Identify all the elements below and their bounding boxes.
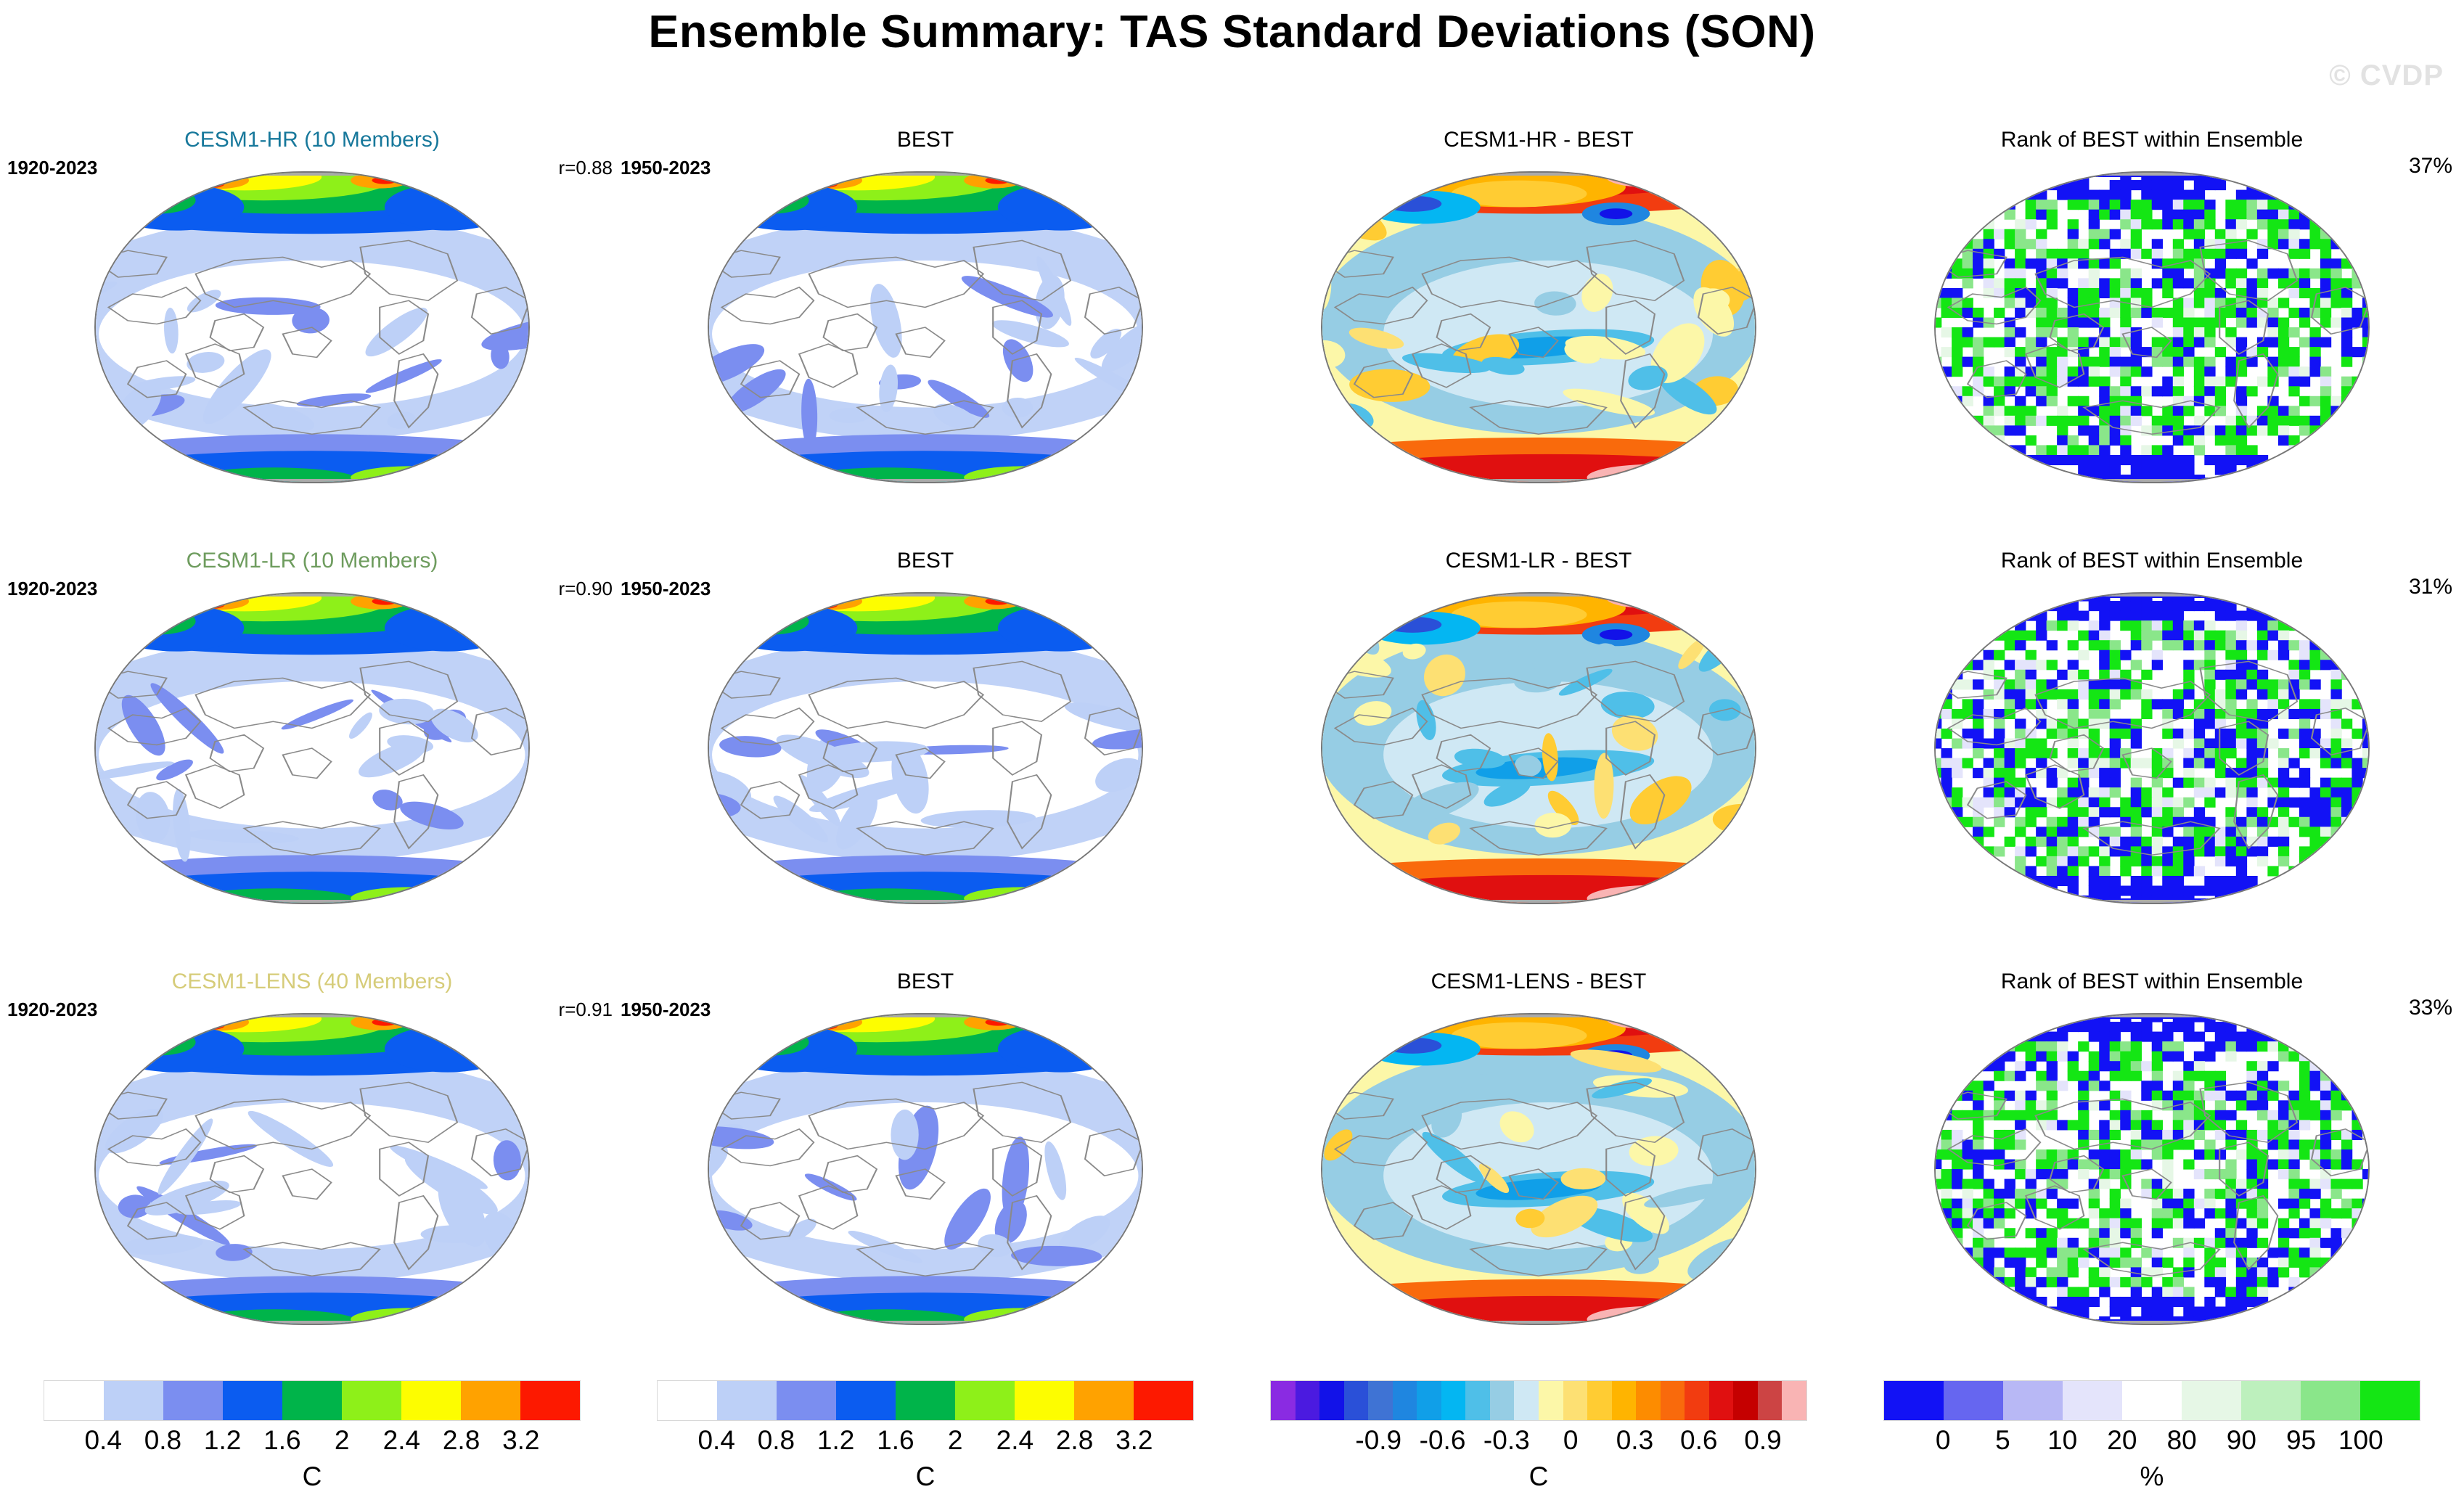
colorbar-tick-label: 2 [335, 1425, 350, 1456]
colorbar-swatch [2122, 1381, 2182, 1420]
colorbar-swatch [1393, 1381, 1417, 1420]
colorbar-tick-label: -0.6 [1420, 1425, 1466, 1456]
map-panel-model-row3: CESM1-LENS (40 Members)1920-2023r=0.91 [7, 978, 617, 1370]
colorbar-tick-label: 0.3 [1616, 1425, 1653, 1456]
cvdp-watermark: © CVDP [2329, 60, 2444, 92]
colorbar-swatch [1563, 1381, 1588, 1420]
map-projection-outline [1321, 171, 1756, 483]
projection-bottom-edge [2048, 1321, 2256, 1324]
map-panel-obs-row3: BEST1950-2023 [621, 978, 1230, 1370]
projection-top-edge [822, 173, 1029, 176]
projection-bottom-edge [1435, 900, 1642, 903]
colorbar-tick-label: 10 [2047, 1425, 2077, 1456]
colorbar-tick-label: 0.6 [1680, 1425, 1717, 1456]
projection-bottom-edge [2048, 479, 2256, 482]
colorbar-swatch [2003, 1381, 2063, 1420]
panel-period-obs-row1: 1950-2023 [621, 157, 711, 179]
projection-top-edge [822, 594, 1029, 597]
colorbar-swatch [1587, 1381, 1612, 1420]
projection-top-edge [822, 1015, 1029, 1017]
colorbar-swatch [1465, 1381, 1490, 1420]
colorbar-swatch [163, 1381, 223, 1420]
projection-bottom-edge [208, 479, 416, 482]
colorbar-swatch [2241, 1381, 2301, 1420]
colorbar-tick-label: 2 [948, 1425, 963, 1456]
panel-title-obs-row2: BEST [621, 549, 1230, 573]
map-panel-diff-row3: CESM1-LENS - BEST [1234, 978, 1843, 1370]
panel-title-rank-row3: Rank of BEST within Ensemble [1847, 970, 2457, 994]
colorbar-swatch [658, 1381, 717, 1420]
projection-bottom-edge [822, 479, 1029, 482]
map-projection-outline [94, 171, 530, 483]
map-panel-rank-row1: Rank of BEST within Ensemble37% [1847, 136, 2457, 528]
globe-diff-row3 [1321, 1013, 1756, 1325]
colorbar-swatch [1733, 1381, 1758, 1420]
colorbar-swatch [1015, 1381, 1074, 1420]
map-projection-outline [1934, 592, 2370, 904]
colorbar-tick-label: 90 [2227, 1425, 2256, 1456]
colorbar-swatch [1661, 1381, 1685, 1420]
colorbar-swatch [2182, 1381, 2241, 1420]
projection-top-edge [208, 594, 416, 597]
projection-bottom-edge [208, 1321, 416, 1324]
colorbar-tick-label: -0.3 [1483, 1425, 1530, 1456]
colorbar-swatch [520, 1381, 580, 1420]
panel-title-model-row1: CESM1-HR (10 Members) [7, 128, 617, 152]
map-projection-outline [708, 592, 1143, 904]
projection-bottom-edge [2048, 900, 2256, 903]
map-projection-outline [1321, 592, 1756, 904]
colorbar-swatch [1441, 1381, 1466, 1420]
colorbar-swatch [2301, 1381, 2360, 1420]
colorbar-std-dev-obs: 0.40.81.21.622.42.83.2C [657, 1380, 1194, 1421]
colorbar-strip-difference [1270, 1380, 1807, 1421]
panel-title-diff-row3: CESM1-LENS - BEST [1234, 970, 1843, 994]
colorbar-tick-label: 2.4 [383, 1425, 420, 1456]
colorbar-rank-percentile: 051020809095100% [1883, 1380, 2420, 1421]
panel-correlation-row3: r=0.91 [559, 999, 613, 1021]
colorbar-swatch [104, 1381, 163, 1420]
panel-correlation-row2: r=0.90 [559, 578, 613, 600]
colorbar-swatch [2063, 1381, 2122, 1420]
map-projection-outline [1934, 1013, 2370, 1325]
colorbar-tick-label: 80 [2167, 1425, 2197, 1456]
colorbar-difference: -0.9-0.6-0.300.30.60.9C [1270, 1380, 1807, 1421]
colorbar-tick-label: 0 [1936, 1425, 1951, 1456]
colorbar-strip-rank-percentile [1883, 1380, 2420, 1421]
colorbar-tick-label: 1.2 [204, 1425, 241, 1456]
colorbar-swatch [1944, 1381, 2003, 1420]
map-panel-rank-row2: Rank of BEST within Ensemble31% [1847, 557, 2457, 949]
projection-top-edge [2048, 594, 2256, 597]
colorbar-tick-label: 100 [2338, 1425, 2383, 1456]
colorbar-swatch [1319, 1381, 1344, 1420]
globe-diff-row1 [1321, 171, 1756, 483]
panel-period-model-row1: 1920-2023 [7, 157, 97, 179]
colorbar-tick-label: 2.8 [1056, 1425, 1093, 1456]
colorbar-swatch [1758, 1381, 1782, 1420]
globe-diff-row2 [1321, 592, 1756, 904]
panel-title-obs-row3: BEST [621, 970, 1230, 994]
colorbar-tick-label: 3.2 [1116, 1425, 1153, 1456]
colorbar-swatch [223, 1381, 282, 1420]
colorbar-swatch [401, 1381, 461, 1420]
panel-rank-percent-row1: 37% [2409, 154, 2452, 179]
globe-obs-row3 [708, 1013, 1143, 1325]
colorbar-tick-label: 0.8 [144, 1425, 181, 1456]
panel-rank-percent-row2: 31% [2409, 575, 2452, 599]
colorbar-strip-std-dev-obs [657, 1380, 1194, 1421]
colorbar-ticks-std-dev-model: 0.40.81.21.622.42.83.2 [44, 1425, 581, 1459]
projection-bottom-edge [1435, 479, 1642, 482]
map-panel-diff-row1: CESM1-HR - BEST [1234, 136, 1843, 528]
colorbar-swatch [955, 1381, 1015, 1420]
projection-top-edge [208, 173, 416, 176]
colorbar-swatch [461, 1381, 520, 1420]
colorbar-swatch [1417, 1381, 1441, 1420]
panel-title-obs-row1: BEST [621, 128, 1230, 152]
projection-top-edge [1435, 173, 1642, 176]
globe-obs-row2 [708, 592, 1143, 904]
globe-rank-row1 [1934, 171, 2370, 483]
colorbar-unit-std-dev-model: C [44, 1462, 581, 1492]
map-projection-outline [94, 1013, 530, 1325]
colorbar-swatch [342, 1381, 401, 1420]
panel-title-diff-row1: CESM1-HR - BEST [1234, 128, 1843, 152]
map-projection-outline [708, 1013, 1143, 1325]
map-panel-obs-row2: BEST1950-2023 [621, 557, 1230, 949]
projection-top-edge [208, 1015, 416, 1017]
projection-bottom-edge [208, 900, 416, 903]
colorbar-tick-label: 1.6 [877, 1425, 914, 1456]
colorbar-tick-label: 5 [1995, 1425, 2010, 1456]
colorbar-tick-label: 0.9 [1744, 1425, 1781, 1456]
globe-model-row2 [94, 592, 530, 904]
colorbar-swatch [1782, 1381, 1806, 1420]
globe-rank-row2 [1934, 592, 2370, 904]
panel-title-diff-row2: CESM1-LR - BEST [1234, 549, 1843, 573]
globe-model-row1 [94, 171, 530, 483]
colorbar-unit-rank-percentile: % [1883, 1462, 2420, 1492]
map-projection-outline [94, 592, 530, 904]
colorbar-unit-difference: C [1270, 1462, 1807, 1492]
colorbar-swatch [1636, 1381, 1661, 1420]
panel-period-model-row2: 1920-2023 [7, 578, 97, 600]
colorbar-swatch [1271, 1381, 1296, 1420]
colorbar-swatch [717, 1381, 777, 1420]
colorbar-swatch [1539, 1381, 1563, 1420]
projection-top-edge [2048, 1015, 2256, 1017]
colorbar-swatch [1490, 1381, 1515, 1420]
panel-title-rank-row1: Rank of BEST within Ensemble [1847, 128, 2457, 152]
colorbar-tick-label: 2.8 [443, 1425, 480, 1456]
colorbar-tick-label: 0.8 [758, 1425, 795, 1456]
colorbar-tick-label: 0 [1563, 1425, 1579, 1456]
map-panel-model-row1: CESM1-HR (10 Members)1920-2023r=0.88 [7, 136, 617, 528]
colorbar-swatch [1368, 1381, 1393, 1420]
colorbar-strip-std-dev-model [44, 1380, 581, 1421]
colorbar-swatch [44, 1381, 104, 1420]
panel-rank-percent-row3: 33% [2409, 996, 2452, 1020]
colorbar-ticks-rank-percentile: 051020809095100 [1883, 1425, 2420, 1459]
colorbar-swatch [1344, 1381, 1369, 1420]
colorbar-unit-std-dev-obs: C [657, 1462, 1194, 1492]
colorbar-swatch [1296, 1381, 1320, 1420]
colorbar-swatch [836, 1381, 896, 1420]
projection-top-edge [2048, 173, 2256, 176]
colorbar-tick-label: 0.4 [84, 1425, 121, 1456]
panel-title-rank-row2: Rank of BEST within Ensemble [1847, 549, 2457, 573]
colorbar-swatch [1612, 1381, 1637, 1420]
colorbar-tick-label: -0.9 [1355, 1425, 1401, 1456]
colorbar-swatch [2360, 1381, 2420, 1420]
globe-rank-row3 [1934, 1013, 2370, 1325]
map-projection-outline [708, 171, 1143, 483]
colorbar-tick-label: 2.4 [996, 1425, 1034, 1456]
colorbar-tick-label: 95 [2286, 1425, 2316, 1456]
projection-top-edge [1435, 594, 1642, 597]
colorbar-swatch [282, 1381, 342, 1420]
colorbar-ticks-std-dev-obs: 0.40.81.21.622.42.83.2 [657, 1425, 1194, 1459]
map-panel-obs-row1: BEST1950-2023 [621, 136, 1230, 528]
projection-bottom-edge [822, 1321, 1029, 1324]
map-panel-model-row2: CESM1-LR (10 Members)1920-2023r=0.90 [7, 557, 617, 949]
colorbar-std-dev-model: 0.40.81.21.622.42.83.2C [44, 1380, 581, 1421]
map-panel-diff-row2: CESM1-LR - BEST [1234, 557, 1843, 949]
panel-period-obs-row2: 1950-2023 [621, 578, 711, 600]
colorbar-tick-label: 0.4 [697, 1425, 734, 1456]
map-projection-outline [1321, 1013, 1756, 1325]
map-panel-rank-row3: Rank of BEST within Ensemble33% [1847, 978, 2457, 1370]
panel-title-model-row2: CESM1-LR (10 Members) [7, 549, 617, 573]
colorbar-tick-label: 1.2 [817, 1425, 854, 1456]
projection-bottom-edge [1435, 1321, 1642, 1324]
colorbar-swatch [1074, 1381, 1134, 1420]
globe-model-row3 [94, 1013, 530, 1325]
colorbar-ticks-difference: -0.9-0.6-0.300.30.60.9 [1270, 1425, 1807, 1459]
panel-title-model-row3: CESM1-LENS (40 Members) [7, 970, 617, 994]
panel-correlation-row1: r=0.88 [559, 157, 613, 179]
projection-top-edge [1435, 1015, 1642, 1017]
colorbar-swatch [1709, 1381, 1734, 1420]
colorbar-swatch [1134, 1381, 1193, 1420]
panel-period-model-row3: 1920-2023 [7, 999, 97, 1021]
colorbar-swatch [777, 1381, 836, 1420]
page-title: Ensemble Summary: TAS Standard Deviation… [0, 6, 2464, 58]
projection-bottom-edge [822, 900, 1029, 903]
map-projection-outline [1934, 171, 2370, 483]
colorbar-swatch [1514, 1381, 1539, 1420]
colorbar-tick-label: 1.6 [263, 1425, 300, 1456]
colorbar-swatch [1884, 1381, 1944, 1420]
colorbar-tick-label: 20 [2107, 1425, 2137, 1456]
colorbar-tick-label: 3.2 [502, 1425, 539, 1456]
globe-obs-row1 [708, 171, 1143, 483]
colorbar-swatch [1685, 1381, 1709, 1420]
panel-period-obs-row3: 1950-2023 [621, 999, 711, 1021]
colorbar-swatch [896, 1381, 955, 1420]
